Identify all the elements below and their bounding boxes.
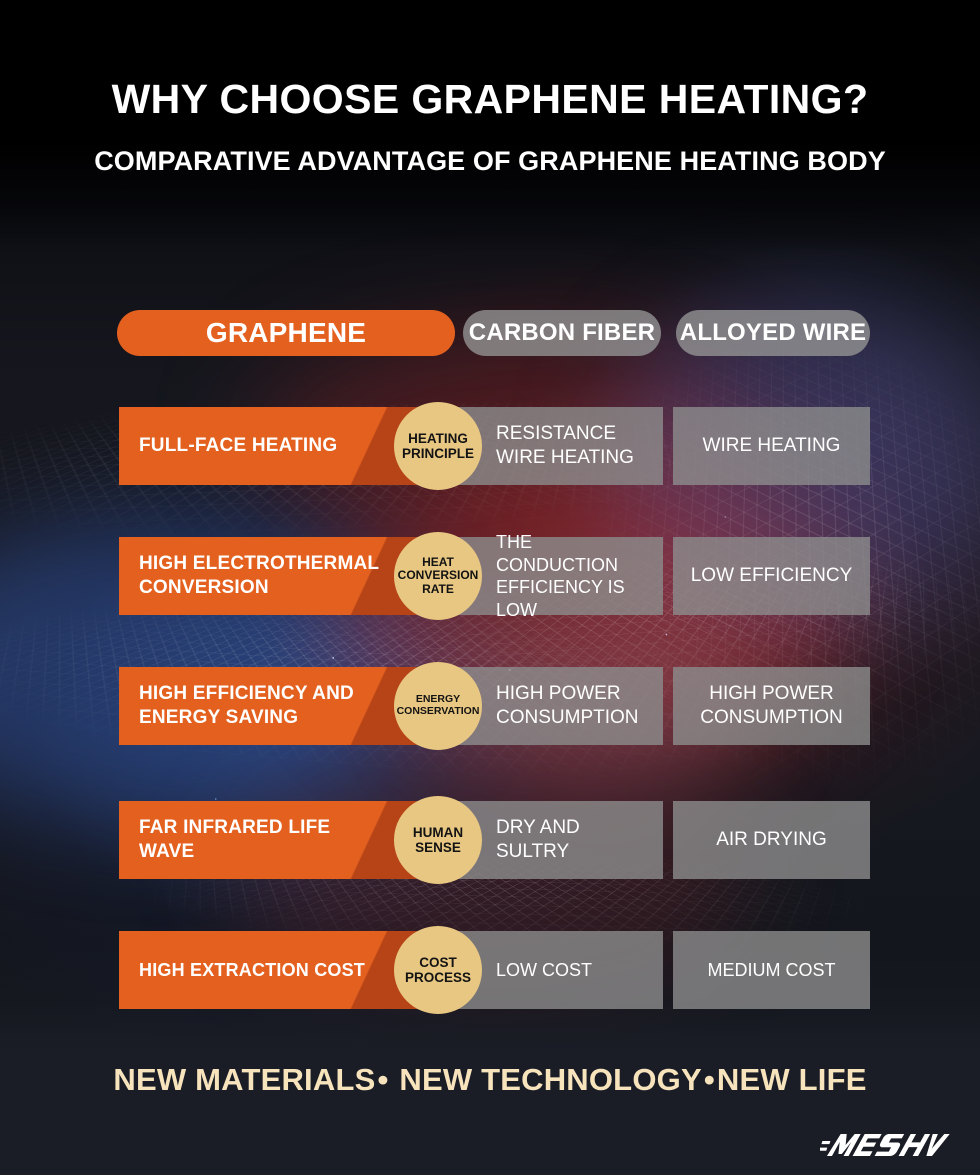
cell-alloyed-wire[interactable]: HIGH POWER CONSUMPTION bbox=[673, 667, 870, 745]
cell-alloyed-wire[interactable]: MEDIUM COST bbox=[673, 931, 870, 1009]
criterion-badge-heating-principle: HEATING PRINCIPLE bbox=[394, 402, 482, 490]
criterion-badge-line: HEAT bbox=[422, 556, 454, 569]
page-title: WHY CHOOSE GRAPHENE HEATING? bbox=[0, 78, 980, 121]
cell-carbon-fiber-label: HIGH POWER CONSUMPTION bbox=[496, 682, 653, 730]
table-row: HIGH ELECTROTHERMAL CONVERSION HEAT CONV… bbox=[0, 537, 980, 615]
column-header-alloyed-wire-label: ALLOYED WIRE bbox=[680, 319, 866, 347]
table-row: FAR INFRARED LIFE WAVE HUMAN SENSE DRY A… bbox=[0, 801, 980, 879]
table-header-row: GRAPHENE CARBON FIBER ALLOYED WIRE bbox=[0, 310, 980, 356]
cell-carbon-fiber-label: LOW COST bbox=[496, 959, 592, 982]
cell-graphene-label: FULL-FACE HEATING bbox=[139, 434, 337, 458]
criterion-badge-human-sense: HUMAN SENSE bbox=[394, 796, 482, 884]
table-row: HIGH EFFICIENCY AND ENERGY SAVING ENERGY… bbox=[0, 667, 980, 745]
criterion-badge-line: PRINCIPLE bbox=[402, 446, 474, 461]
tagline-separator-2: • bbox=[702, 1062, 717, 1097]
cell-graphene-label: HIGH EFFICIENCY AND ENERGY SAVING bbox=[139, 682, 380, 730]
cell-carbon-fiber-label: THE CONDUCTION EFFICIENCY IS LOW bbox=[496, 531, 653, 621]
column-header-carbon-fiber[interactable]: CARBON FIBER bbox=[463, 310, 661, 356]
table-row: FULL-FACE HEATING HEATING PRINCIPLE RESI… bbox=[0, 407, 980, 485]
page-subtitle: COMPARATIVE ADVANTAGE OF GRAPHENE HEATIN… bbox=[0, 147, 980, 177]
criterion-badge-energy-conservation: ENERGY CONSERVATION bbox=[394, 662, 482, 750]
cell-graphene-label: HIGH EXTRACTION COST bbox=[139, 959, 365, 982]
cell-alloyed-wire-label: LOW EFFICIENCY bbox=[691, 564, 853, 588]
cell-alloyed-wire-label: AIR DRYING bbox=[716, 828, 827, 852]
criterion-badge-line: PROCESS bbox=[405, 970, 471, 985]
column-header-graphene[interactable]: GRAPHENE bbox=[117, 310, 455, 356]
cell-carbon-fiber-label: RESISTANCE WIRE HEATING bbox=[496, 422, 653, 470]
title-block: WHY CHOOSE GRAPHENE HEATING? COMPARATIVE… bbox=[0, 78, 980, 177]
criterion-badge-line: CONSERVATION bbox=[397, 706, 480, 718]
cell-alloyed-wire[interactable]: LOW EFFICIENCY bbox=[673, 537, 870, 615]
cell-alloyed-wire-label: HIGH POWER CONSUMPTION bbox=[687, 682, 856, 730]
tagline-part-1: NEW MATERIALS bbox=[113, 1062, 375, 1097]
cell-alloyed-wire-label: WIRE HEATING bbox=[703, 434, 841, 458]
criterion-badge-cost-process: COST PROCESS bbox=[394, 926, 482, 1014]
criterion-badge-line: CONVERSION bbox=[398, 569, 479, 582]
cell-alloyed-wire[interactable]: WIRE HEATING bbox=[673, 407, 870, 485]
column-header-carbon-fiber-label: CARBON FIBER bbox=[469, 319, 655, 347]
column-header-graphene-label: GRAPHENE bbox=[206, 317, 366, 349]
criterion-badge-heat-conversion-rate: HEAT CONVERSION RATE bbox=[394, 532, 482, 620]
criterion-badge-line: HEATING bbox=[408, 431, 468, 446]
criterion-badge-line: COST bbox=[419, 955, 457, 970]
criterion-badge-line: HUMAN bbox=[413, 825, 463, 840]
tagline-part-2: NEW TECHNOLOGY bbox=[399, 1062, 701, 1097]
cell-alloyed-wire[interactable]: AIR DRYING bbox=[673, 801, 870, 879]
brand-logo bbox=[812, 1128, 952, 1162]
infographic-page: WHY CHOOSE GRAPHENE HEATING? COMPARATIVE… bbox=[0, 0, 980, 1175]
criterion-badge-line: RATE bbox=[422, 583, 454, 596]
column-header-alloyed-wire[interactable]: ALLOYED WIRE bbox=[676, 310, 870, 356]
cell-graphene-label: FAR INFRARED LIFE WAVE bbox=[139, 816, 380, 864]
table-row: HIGH EXTRACTION COST COST PROCESS LOW CO… bbox=[0, 931, 980, 1009]
criterion-badge-line: SENSE bbox=[415, 840, 461, 855]
footer-tagline: NEW MATERIALS• NEW TECHNOLOGY•NEW LIFE bbox=[0, 1062, 980, 1098]
cell-graphene-label: HIGH ELECTROTHERMAL CONVERSION bbox=[139, 552, 380, 600]
cell-alloyed-wire-label: MEDIUM COST bbox=[708, 959, 836, 982]
tagline-part-3: NEW LIFE bbox=[717, 1062, 867, 1097]
cell-carbon-fiber-label: DRY AND SULTRY bbox=[496, 816, 653, 864]
tagline-separator-1: • bbox=[375, 1062, 390, 1097]
